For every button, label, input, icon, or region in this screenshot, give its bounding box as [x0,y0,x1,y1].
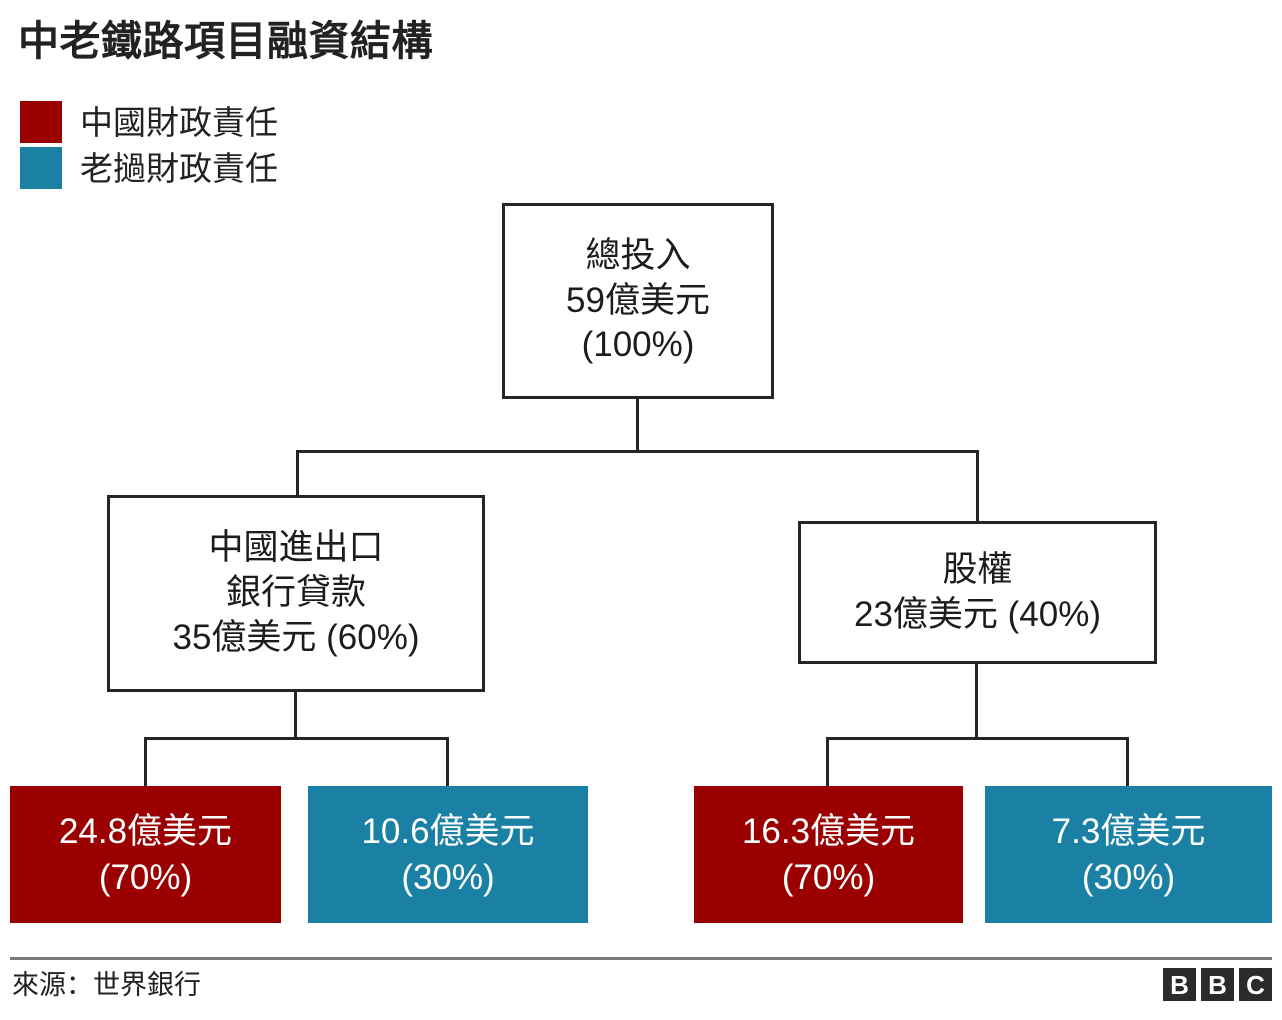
connector-tier1-bar [296,450,979,453]
node-total-line-2: 59億美元 [566,279,710,324]
connector-total-stem [636,399,639,451]
node-equity-line-1: 股權 [942,548,1012,593]
connector-loan-stem [294,692,297,739]
node-exim-bank-loan: 中國進出口 銀行貸款 35億美元 (60%) [107,495,485,692]
connector-drop-equity [976,450,979,522]
node-loan-laos-share: 10.6億美元 (30%) [308,786,588,923]
legend-label-china: 中國財政責任 [80,106,278,139]
bbc-logo: B B C [1163,968,1272,1001]
node-leaf-3-line-1: 16.3億美元 [742,809,915,855]
node-total-line-1: 總投入 [585,234,690,279]
legend-swatch-laos-icon [20,147,62,189]
connector-drop-leaf4 [1126,737,1129,787]
connector-equity-bar [826,737,1129,740]
legend-item-laos: 老撾財政責任 [20,145,278,191]
node-leaf-4-line-2: (30%) [1082,855,1175,901]
node-leaf-1-line-1: 24.8億美元 [59,809,232,855]
legend-swatch-china-icon [20,101,62,143]
node-equity-line-2: 23億美元 (40%) [854,593,1101,638]
connector-drop-leaf1 [144,737,147,787]
bbc-logo-letter-1: B [1163,968,1196,1001]
node-leaf-1-line-2: (70%) [99,855,192,901]
node-equity: 股權 23億美元 (40%) [798,521,1157,664]
legend-item-china: 中國財政責任 [20,99,278,145]
bbc-logo-letter-3: C [1239,968,1272,1001]
node-leaf-4-line-1: 7.3億美元 [1052,809,1206,855]
source-text: 來源：世界銀行 [12,972,201,999]
legend: 中國財政責任 老撾財政責任 [20,99,278,191]
page-title: 中老鐵路項目融資結構 [18,18,433,65]
connector-drop-leaf2 [446,737,449,787]
node-loan-china-share: 24.8億美元 (70%) [10,786,281,923]
node-loan-line-1: 中國進出口 [208,526,383,571]
node-total-line-3: (100%) [582,323,695,368]
connector-drop-leaf3 [826,737,829,787]
bbc-logo-letter-2: B [1201,968,1234,1001]
node-loan-line-3: 35億美元 (60%) [172,616,419,661]
node-leaf-2-line-1: 10.6億美元 [361,809,534,855]
footer-divider [10,957,1272,960]
infographic-canvas: 中老鐵路項目融資結構 中國財政責任 老撾財政責任 總投入 59億美元 (100%… [0,0,1282,1020]
node-total-investment: 總投入 59億美元 (100%) [502,203,774,399]
node-equity-china-share: 16.3億美元 (70%) [694,786,963,923]
node-loan-line-2: 銀行貸款 [226,571,366,616]
connector-loan-bar [144,737,449,740]
node-equity-laos-share: 7.3億美元 (30%) [985,786,1272,923]
legend-label-laos: 老撾財政責任 [80,152,278,185]
node-leaf-3-line-2: (70%) [782,855,875,901]
connector-drop-loan [296,450,299,496]
node-leaf-2-line-2: (30%) [401,855,494,901]
connector-equity-stem [975,664,978,738]
